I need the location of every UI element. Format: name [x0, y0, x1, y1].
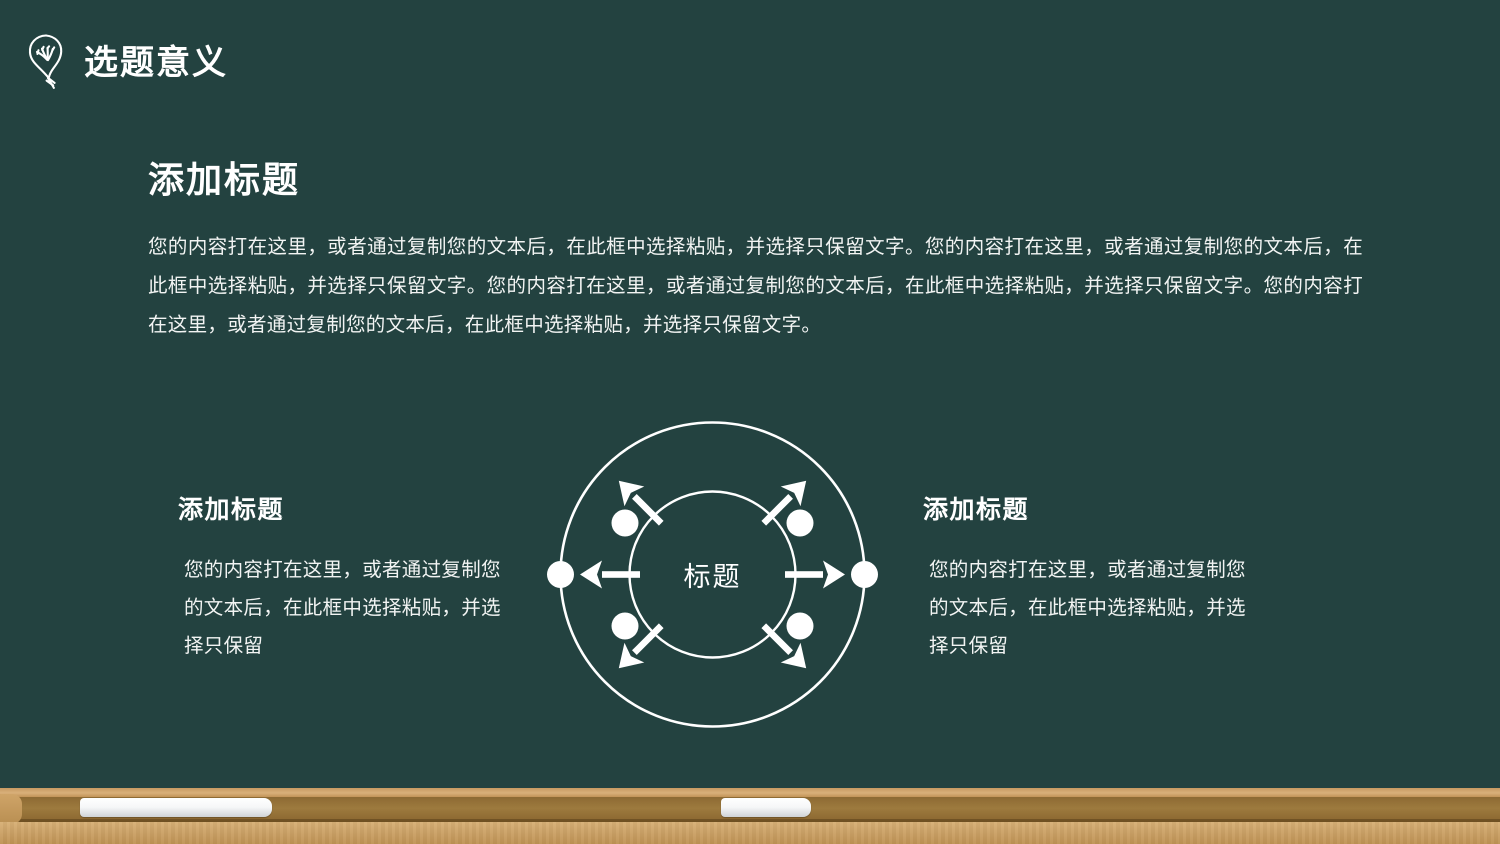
left-block-title: 添加标题 — [178, 495, 508, 525]
ring-node-left — [547, 561, 574, 588]
chalk-stick-short — [721, 798, 811, 817]
lightbulb-icon — [24, 32, 70, 94]
ring-node-lower-left — [612, 613, 639, 640]
radial-diagram: 标题 — [540, 402, 885, 747]
arrow-group — [580, 471, 845, 678]
tray-top-edge — [0, 788, 1500, 797]
left-content-block: 添加标题 您的内容打在这里，或者通过复制您的文本后，在此框中选择粘贴，并选择只保… — [178, 495, 508, 665]
ring-node-lower-right — [787, 613, 814, 640]
main-title: 添加标题 — [148, 158, 300, 201]
ring-node-upper-right — [787, 510, 814, 537]
ring-node-upper-left — [612, 510, 639, 537]
slide-header: 选题意义 — [24, 32, 228, 94]
chalk-tray — [0, 788, 1500, 844]
main-paragraph: 您的内容打在这里，或者通过复制您的文本后，在此框中选择粘贴，并选择只保留文字。您… — [148, 228, 1363, 345]
left-block-body: 您的内容打在这里，或者通过复制您的文本后，在此框中选择粘贴，并选择只保留 — [178, 551, 508, 665]
radial-diagram-svg — [540, 402, 885, 747]
right-block-title: 添加标题 — [923, 495, 1253, 525]
chalk-stick-long — [80, 798, 272, 817]
tray-front-panel — [0, 822, 1500, 844]
right-content-block: 添加标题 您的内容打在这里，或者通过复制您的文本后，在此框中选择粘贴，并选择只保… — [923, 495, 1253, 665]
right-block-body: 您的内容打在这里，或者通过复制您的文本后，在此框中选择粘贴，并选择只保留 — [923, 551, 1253, 665]
page-title: 选题意义 — [84, 46, 228, 80]
ring-node-right — [851, 561, 878, 588]
slide-canvas: 选题意义 添加标题 您的内容打在这里，或者通过复制您的文本后，在此框中选择粘贴，… — [0, 0, 1500, 844]
tray-left-cap — [0, 794, 22, 824]
